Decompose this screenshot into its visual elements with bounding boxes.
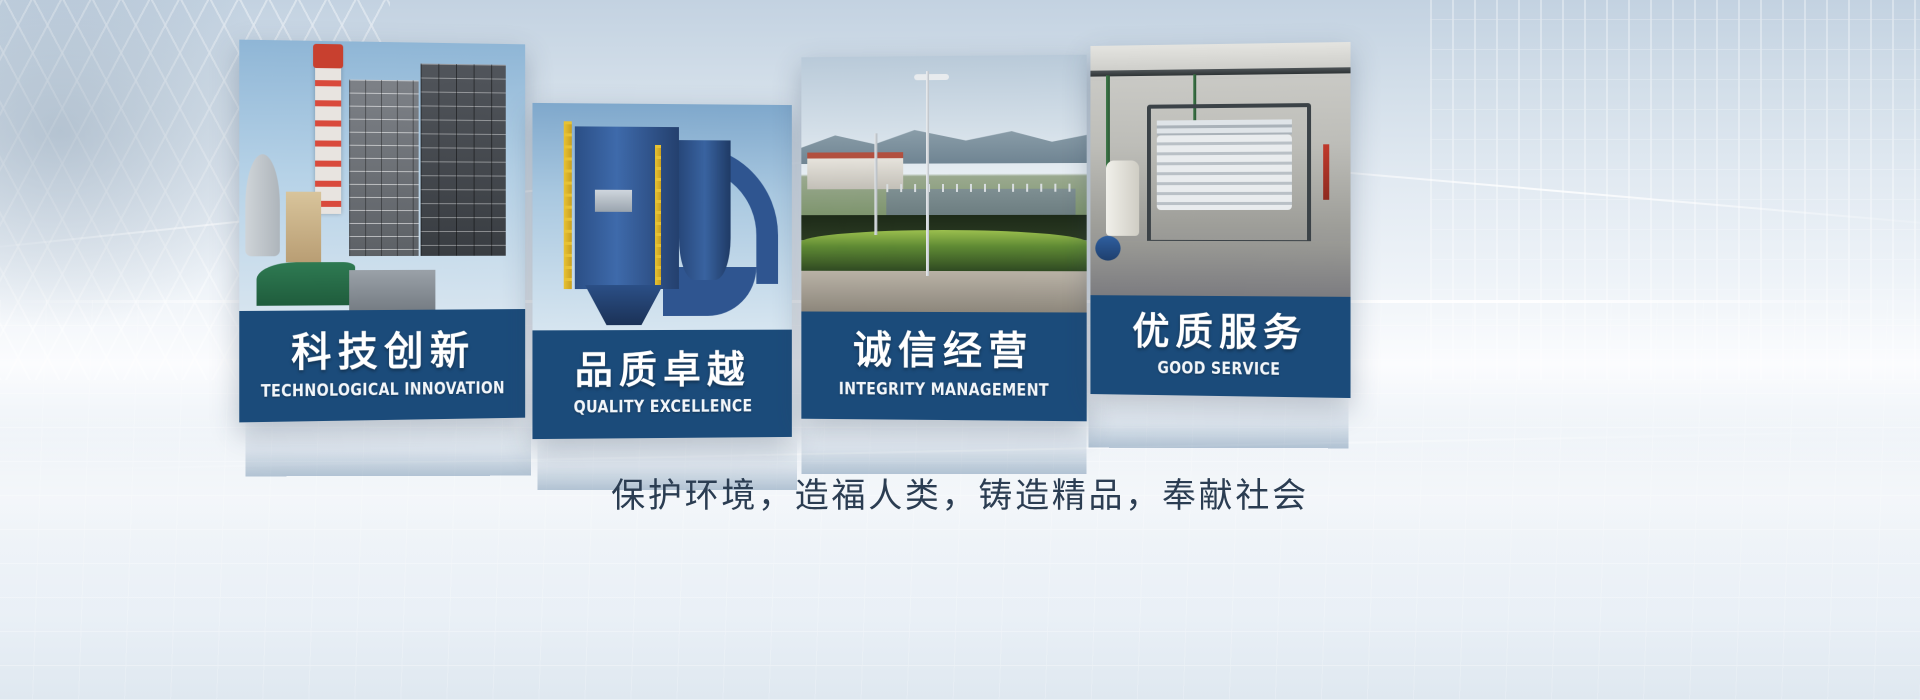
- feature-card-good-service[interactable]: 优质服务 GOOD SERVICE: [1090, 42, 1350, 398]
- feature-card-reflection: [1088, 396, 1348, 449]
- industrial-plant-chimney-photo: [239, 40, 525, 311]
- feature-card-band: 优质服务 GOOD SERVICE: [1090, 295, 1350, 398]
- feature-card-technological-innovation[interactable]: 科技创新 TECHNOLOGICAL INNOVATION: [239, 40, 525, 423]
- banner-tagline: 保护环境，造福人类，铸造精品，奉献社会: [0, 468, 1920, 517]
- feature-card-integrity-management[interactable]: 诚信经营 INTEGRITY MANAGEMENT: [801, 55, 1086, 422]
- feature-card-reflection: [801, 420, 1086, 474]
- water-treatment-plant-outdoor-photo: [801, 55, 1086, 313]
- feature-card-en-title: QUALITY EXCELLENCE: [573, 397, 752, 418]
- feature-card-cn-title: 诚信经营: [853, 332, 1034, 374]
- feature-card-cn-title: 科技创新: [291, 330, 475, 374]
- feature-card-band: 科技创新 TECHNOLOGICAL INNOVATION: [239, 309, 525, 422]
- feature-card-en-title: GOOD SERVICE: [1158, 358, 1281, 380]
- feature-card-en-title: TECHNOLOGICAL INNOVATION: [261, 378, 505, 401]
- feature-card-en-title: INTEGRITY MANAGEMENT: [838, 379, 1048, 401]
- feature-card-cn-title: 品质卓越: [575, 350, 751, 391]
- blue-dust-collector-ducting-photo: [532, 103, 791, 330]
- feature-card-band: 品质卓越 QUALITY EXCELLENCE: [532, 330, 791, 439]
- feature-card-cn-title: 优质服务: [1132, 312, 1307, 354]
- feature-card-band: 诚信经营 INTEGRITY MANAGEMENT: [801, 311, 1086, 421]
- corporate-banner: 科技创新 TECHNOLOGICAL INNOVATION 品质卓越 QUALI…: [0, 0, 1920, 700]
- reverse-osmosis-membrane-room-photo: [1090, 42, 1350, 297]
- feature-card-quality-excellence[interactable]: 品质卓越 QUALITY EXCELLENCE: [532, 103, 791, 439]
